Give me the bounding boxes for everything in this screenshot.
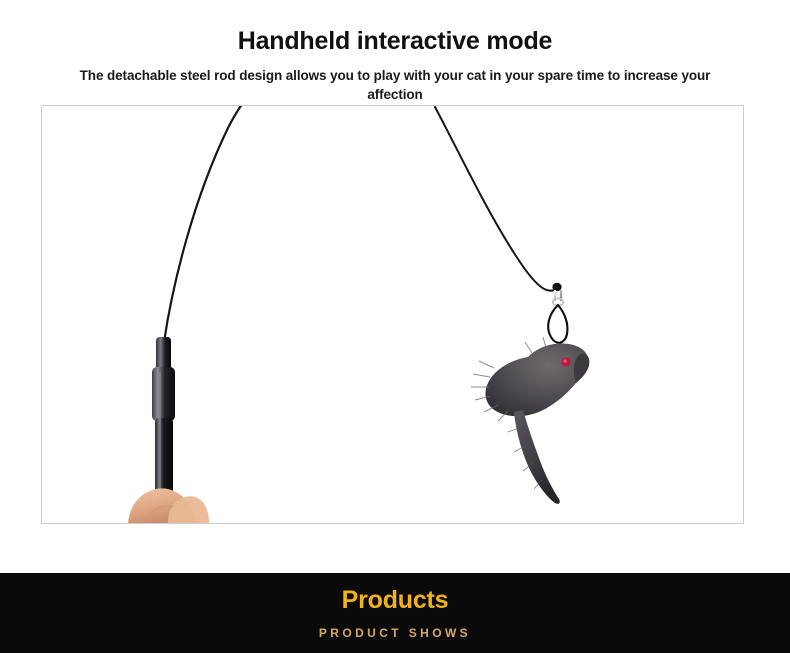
banner-subtitle: PRODUCT SHOWS bbox=[0, 615, 790, 640]
mouse-eye-highlight bbox=[563, 359, 566, 362]
handle-tip bbox=[156, 337, 171, 370]
page-title: Handheld interactive mode bbox=[0, 28, 790, 56]
product-image-frame bbox=[41, 105, 744, 524]
products-banner: Products PRODUCT SHOWS bbox=[0, 573, 790, 653]
product-image-area bbox=[0, 105, 790, 653]
banner-title: Products bbox=[0, 573, 790, 615]
handle-grip-collar bbox=[152, 367, 175, 421]
header-section: Handheld interactive mode The detachable… bbox=[0, 0, 790, 105]
photo-background bbox=[42, 106, 743, 523]
product-detail-page: Handheld interactive mode The detachable… bbox=[0, 0, 790, 653]
page-subtitle: The detachable steel rod design allows y… bbox=[69, 66, 721, 105]
rod-tip-bead bbox=[552, 282, 561, 290]
product-photo bbox=[42, 106, 743, 523]
